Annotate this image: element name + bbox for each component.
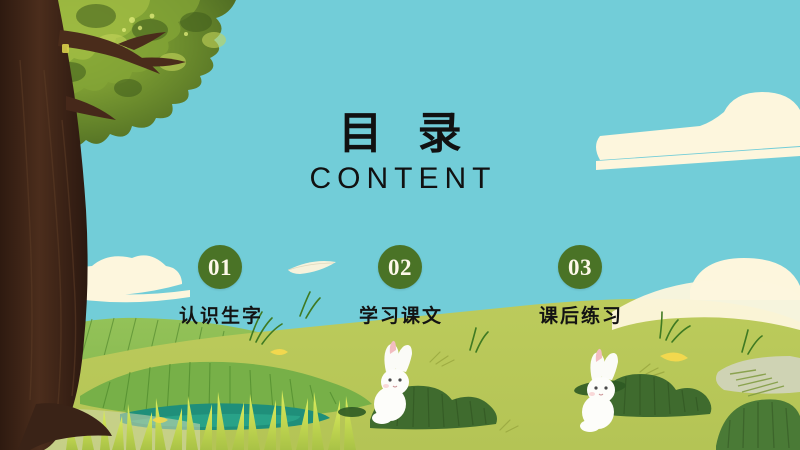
agenda-number-02: 02 [388, 256, 412, 279]
agenda-label-02: 学习课文 [310, 301, 490, 328]
agenda-number-03: 03 [568, 256, 592, 279]
scenery-background [0, 0, 800, 450]
agenda-item-01[interactable]: 01 认识生字 [130, 245, 310, 328]
agenda-number-01: 01 [208, 256, 232, 279]
slide-canvas: 目 录 CONTENT 01 认识生字 02 学习课文 03 课后练习 [0, 0, 800, 450]
agenda-label-01: 认识生字 [130, 301, 310, 328]
title-block: 目 录 CONTENT [0, 110, 800, 196]
agenda-item-02[interactable]: 02 学习课文 [310, 245, 490, 328]
agenda-item-03[interactable]: 03 课后练习 [490, 245, 670, 328]
agenda-label-03: 课后练习 [490, 301, 670, 328]
agenda-number-circle-02[interactable]: 02 [378, 245, 422, 289]
page-title: 目 录 [0, 110, 800, 158]
agenda-number-circle-03[interactable]: 03 [558, 245, 602, 289]
agenda-list: 01 认识生字 02 学习课文 03 课后练习 [0, 245, 800, 345]
page-subtitle: CONTENT [0, 162, 800, 197]
agenda-number-circle-01[interactable]: 01 [198, 245, 242, 289]
